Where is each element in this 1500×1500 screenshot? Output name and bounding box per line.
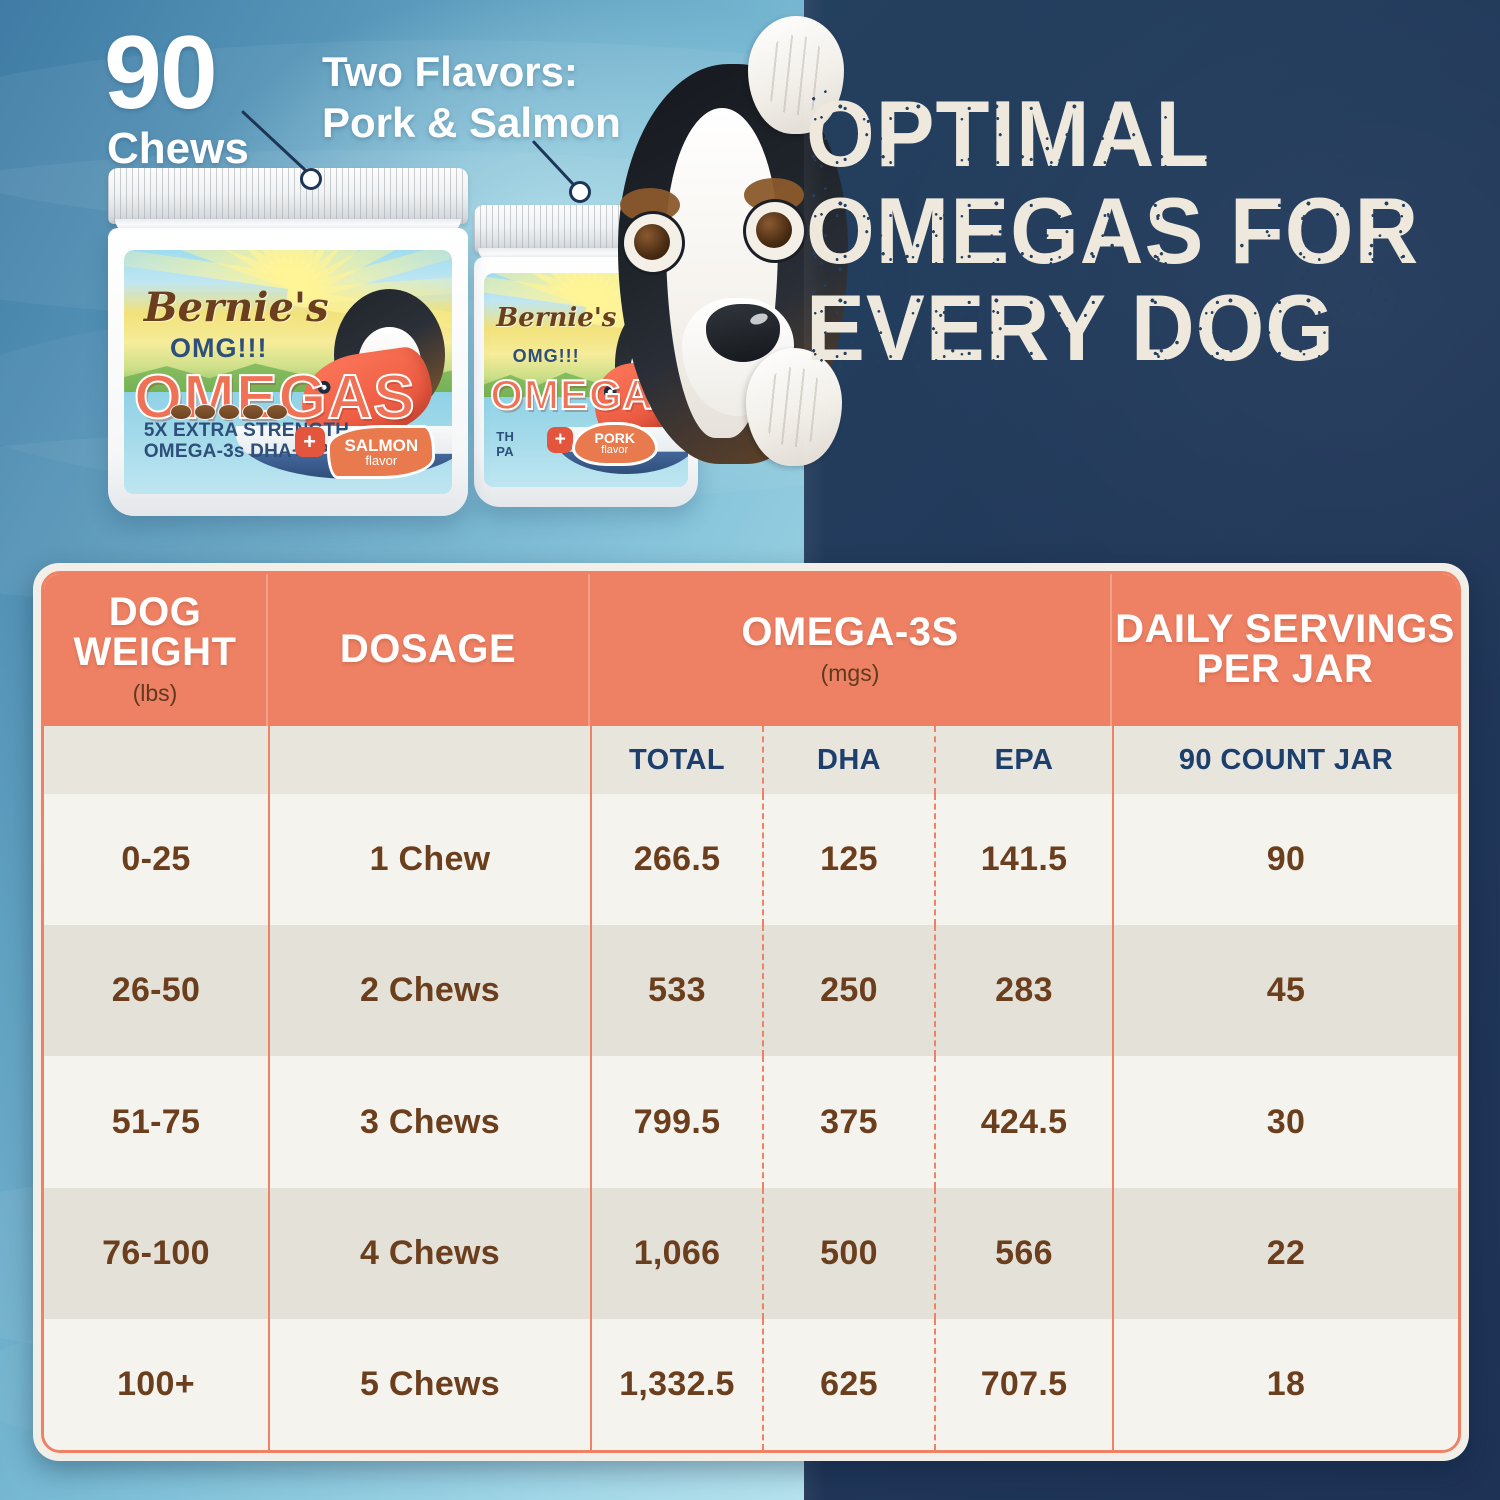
cell-epa: 283 [934, 925, 1112, 1056]
dog-eye-right [746, 202, 804, 260]
header-title: Daily Servings Per Jar [1112, 610, 1458, 689]
leader-dot-icon [569, 181, 591, 203]
cell-servings: 18 [1112, 1319, 1458, 1450]
chew-count-label: Chews [107, 127, 249, 171]
flavor-sub: flavor [365, 454, 397, 467]
flavor-name: SALMON [344, 437, 418, 454]
cell-dha: 625 [762, 1319, 934, 1450]
cell-total: 1,066 [590, 1188, 762, 1319]
cell-total: 1,332.5 [590, 1319, 762, 1450]
header-title: Dog Weight [44, 593, 266, 672]
cell-dog-weight: 26-50 [44, 925, 268, 1056]
table-row: 26-50 2 Chews 533 250 283 45 [44, 925, 1458, 1056]
subheader-blank-weight [44, 726, 268, 794]
cell-dha: 500 [762, 1188, 934, 1319]
cell-servings: 90 [1112, 794, 1458, 925]
jar-sub-brand: OMG!!! [170, 333, 267, 364]
leader-dot-icon [300, 168, 322, 190]
cell-epa: 424.5 [934, 1056, 1112, 1187]
chew-count-callout: 90 Chews [104, 24, 249, 171]
cell-epa: 141.5 [934, 794, 1112, 925]
subheader-epa: EPA [934, 726, 1112, 794]
plus-badge-icon: + [547, 427, 573, 453]
cell-dosage: 5 Chews [268, 1319, 590, 1450]
table-row: 0-25 1 Chew 266.5 125 141.5 90 [44, 794, 1458, 925]
cell-dog-weight: 51-75 [44, 1056, 268, 1187]
subheader-total: TOTAL [590, 726, 762, 794]
cell-dha: 125 [762, 794, 934, 925]
dog-eye-left [624, 214, 682, 272]
cell-total: 533 [590, 925, 762, 1056]
cell-dha: 375 [762, 1056, 934, 1187]
cell-dog-weight: 0-25 [44, 794, 268, 925]
cell-dog-weight: 100+ [44, 1319, 268, 1450]
subheader-dha: DHA [762, 726, 934, 794]
cell-dog-weight: 76-100 [44, 1188, 268, 1319]
plus-badge-icon: + [295, 427, 325, 457]
cell-dosage: 1 Chew [268, 794, 590, 925]
jar-brand-name: Bernie's [144, 284, 329, 331]
table-row: 76-100 4 Chews 1,066 500 566 22 [44, 1188, 1458, 1319]
header-daily-servings: Daily Servings Per Jar [1112, 574, 1458, 726]
cell-dosage: 2 Chews [268, 925, 590, 1056]
table-header-main-row: Dog Weight (lbs) Dosage Omega-3s (mgs) D… [44, 574, 1458, 726]
table-row: 100+ 5 Chews 1,332.5 625 707.5 18 [44, 1319, 1458, 1450]
cell-servings: 45 [1112, 925, 1458, 1056]
header-unit: (mgs) [821, 660, 880, 687]
headline-line-3: Every Dog [806, 280, 1438, 377]
jar-claim: TH PA [496, 430, 514, 459]
header-dog-weight: Dog Weight (lbs) [44, 574, 268, 726]
cell-total: 266.5 [590, 794, 762, 925]
header-dosage: Dosage [268, 574, 590, 726]
table-row: 51-75 3 Chews 799.5 375 424.5 30 [44, 1056, 1458, 1187]
cell-servings: 30 [1112, 1056, 1458, 1187]
product-jar-salmon: Bernie's OMG!!! OMEGAS 5X EXTRA STRENGTH… [108, 168, 468, 516]
cell-servings: 22 [1112, 1188, 1458, 1319]
jar-label: Bernie's OMG!!! OMEGAS 5X EXTRA STRENGTH… [124, 250, 452, 494]
jar-sub-brand: OMG!!! [513, 346, 580, 367]
header-omega-3s: Omega-3s (mgs) [590, 574, 1112, 726]
dosage-table-frame: Dog Weight (lbs) Dosage Omega-3s (mgs) D… [33, 563, 1469, 1461]
jar-cap [108, 168, 468, 224]
flavors-line-1: Two Flavors: [322, 46, 621, 97]
subheader-blank-dosage [268, 726, 590, 794]
subheader-90-count-jar: 90 COUNT JAR [1112, 726, 1458, 794]
jar-body: Bernie's OMG!!! OMEGAS 5X EXTRA STRENGTH… [108, 228, 468, 516]
cell-epa: 566 [934, 1188, 1112, 1319]
page-title: Optimal Omegas For Every Dog [806, 86, 1478, 376]
headline-line-2: Omegas For [806, 183, 1438, 280]
header-title: Dosage [340, 630, 516, 670]
cell-total: 799.5 [590, 1056, 762, 1187]
cell-dosage: 3 Chews [268, 1056, 590, 1187]
table-body: 0-25 1 Chew 266.5 125 141.5 90 26-50 2 C… [44, 794, 1458, 1450]
cell-dha: 250 [762, 925, 934, 1056]
header-unit: (lbs) [133, 680, 178, 707]
flavor-badge-salmon: SALMON flavor [327, 425, 435, 479]
flavors-line-2: Pork & Salmon [322, 97, 621, 148]
dosage-table: Dog Weight (lbs) Dosage Omega-3s (mgs) D… [41, 571, 1461, 1453]
chew-pieces-decoration [170, 404, 288, 420]
flavors-callout: Two Flavors: Pork & Salmon [322, 46, 621, 148]
cell-dosage: 4 Chews [268, 1188, 590, 1319]
header-title: Omega-3s [741, 613, 958, 653]
cell-epa: 707.5 [934, 1319, 1112, 1450]
headline-line-1: Optimal [806, 86, 1438, 183]
chew-count-number: 90 [104, 24, 249, 123]
table-header-sub-row: TOTAL DHA EPA 90 COUNT JAR [44, 726, 1458, 794]
